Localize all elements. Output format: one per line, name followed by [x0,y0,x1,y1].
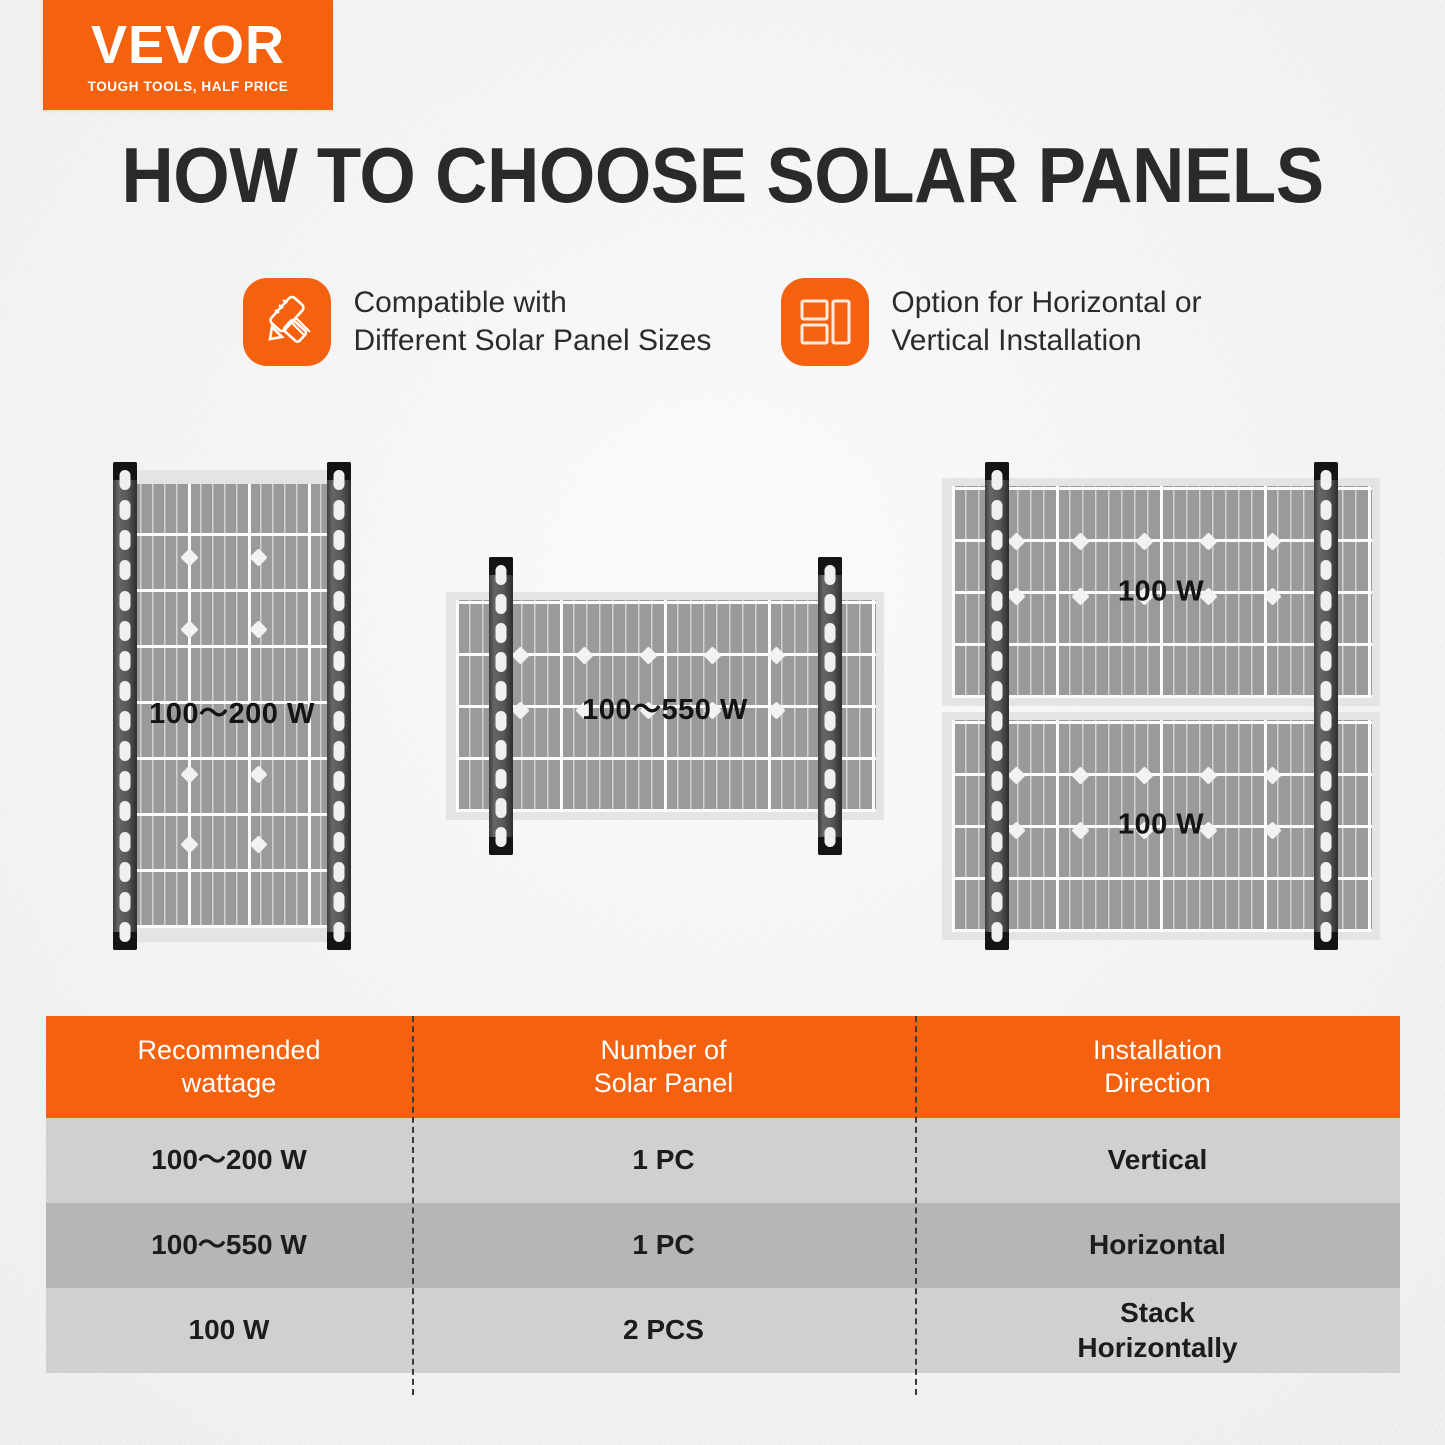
panel-cells [456,600,876,812]
table-header-count: Number of Solar Panel [412,1016,915,1118]
cell-direction-line-2: Horizontally [1077,1331,1237,1365]
panel-layout-icon [781,278,869,366]
table-row: 100 W 2 PCS Stack Horizontally [46,1288,1400,1373]
spec-table: Recommended wattage Number of Solar Pane… [46,1016,1400,1373]
panel-wattage-label-bottom: 100 W [1118,809,1204,842]
cell-direction: Vertical [915,1118,1400,1203]
cell-direction: Stack Horizontally [915,1288,1400,1373]
panel-wattage-label-top: 100 W [1118,576,1204,609]
mounting-rail-right [1314,462,1338,950]
cell-count: 1 PC [412,1203,915,1288]
table-header-row: Recommended wattage Number of Solar Pane… [46,1016,1400,1118]
column-divider-1 [412,1016,414,1395]
header-line-1: Installation [1093,1034,1222,1067]
cell-direction-line-1: Stack [1077,1296,1237,1330]
header-line-2: Direction [1093,1067,1222,1100]
panel-frame [446,592,884,820]
header-line-2: Solar Panel [594,1067,734,1100]
panel-wattage-label: 100～200 W [149,690,315,732]
mounting-rail-right [327,462,351,950]
panel-frame-top [942,478,1380,706]
cell-wattage: 100～550 W [46,1203,412,1288]
brand-tagline: TOUGH TOOLS, HALF PRICE [88,79,289,94]
column-divider-2 [915,1016,917,1395]
panel-cells-bottom [952,720,1372,932]
panel-frame-bottom [942,712,1380,940]
brand-name: VEVOR [91,18,285,72]
table-row: 100～200 W 1 PC Vertical [46,1118,1400,1203]
feature-list: Compatible with Different Solar Panel Si… [0,278,1445,366]
feature-text-compatibility: Compatible with Different Solar Panel Si… [353,284,711,361]
feature-line-2: Different Solar Panel Sizes [353,322,711,360]
header-line-2: wattage [137,1067,320,1100]
panel-wattage-label: 100～550 W [582,686,748,728]
mounting-rail-left [489,557,513,855]
cell-wattage: 100～200 W [46,1118,412,1203]
panel-frame [118,470,346,942]
feature-line-2: Vertical Installation [891,322,1201,360]
panel-cells [128,484,336,928]
table-row: 100～550 W 1 PC Horizontal [46,1203,1400,1288]
header-line-1: Recommended [137,1034,320,1067]
header-line-1: Number of [594,1034,734,1067]
mounting-rail-left [985,462,1009,950]
mounting-rail-left [113,462,137,950]
cell-wattage: 100 W [46,1288,412,1373]
cell-direction: Horizontal [915,1203,1400,1288]
feature-line-1: Option for Horizontal or [891,284,1201,322]
ruler-pencil-icon [243,278,331,366]
feature-line-1: Compatible with [353,284,711,322]
cell-count: 2 PCS [412,1288,915,1373]
infographic-page: VEVOR TOUGH TOOLS, HALF PRICE HOW TO CHO… [0,0,1445,1445]
feature-item-orientation: Option for Horizontal or Vertical Instal… [781,278,1201,366]
page-title: HOW TO CHOOSE SOLAR PANELS [51,130,1395,221]
feature-text-orientation: Option for Horizontal or Vertical Instal… [891,284,1201,361]
panel-cells-top [952,486,1372,698]
feature-item-compatibility: Compatible with Different Solar Panel Si… [243,278,711,366]
mounting-rail-right [818,557,842,855]
table-header-wattage: Recommended wattage [46,1016,412,1118]
brand-logo: VEVOR TOUGH TOOLS, HALF PRICE [43,0,333,110]
cell-count: 1 PC [412,1118,915,1203]
table-header-direction: Installation Direction [915,1016,1400,1118]
